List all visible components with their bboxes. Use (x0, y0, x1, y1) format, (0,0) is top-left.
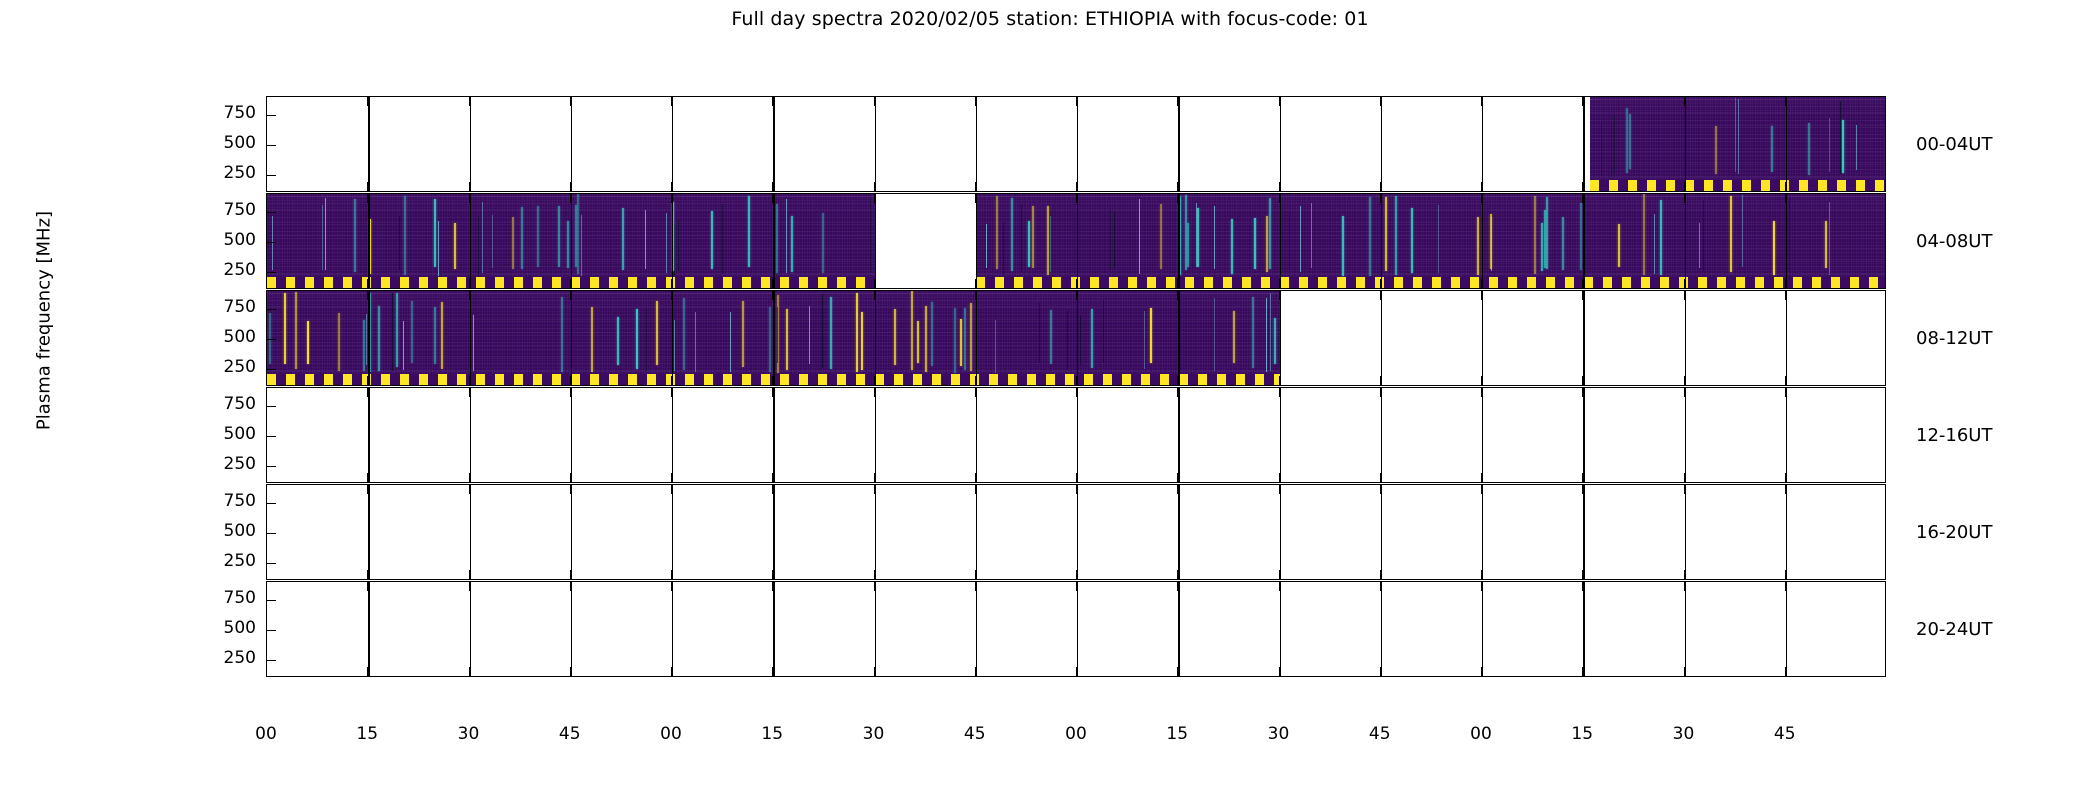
x-tick-mark (367, 97, 368, 106)
interference-streak (567, 221, 569, 269)
x-tick-mark (1582, 291, 1583, 300)
interference-streak (1300, 206, 1301, 272)
row-label-00-04ut: 00-04UT (1916, 134, 1992, 155)
interference-streak (272, 216, 273, 270)
x-tick-mark (570, 582, 571, 591)
x-grid-line (1280, 194, 1281, 288)
x-grid-line (1178, 485, 1179, 579)
x-grid-line (1178, 291, 1179, 385)
interference-streak (492, 215, 493, 268)
x-tick-mark (570, 388, 571, 397)
x-grid-line (1786, 291, 1787, 385)
x-tick-label: 15 (1552, 726, 1612, 743)
x-grid-line (1583, 194, 1584, 288)
x-tick-mark (469, 570, 470, 579)
x-tick-mark (1279, 582, 1280, 591)
x-grid-line (1178, 388, 1179, 482)
interference-streak (396, 293, 398, 367)
x-tick-mark (1582, 570, 1583, 579)
row-label-20-24ut: 20-24UT (1916, 619, 1992, 640)
interference-streak (1266, 216, 1268, 272)
y-tick-mark (267, 563, 276, 564)
interference-streak (674, 224, 675, 275)
y-tick-mark (267, 630, 276, 631)
x-grid-line (1178, 582, 1179, 676)
x-tick-mark (570, 667, 571, 676)
x-grid-line (1685, 97, 1686, 191)
x-grid-line (368, 582, 369, 676)
x-tick-label: 30 (439, 726, 499, 743)
interference-streak (1021, 205, 1022, 272)
x-tick-mark (1684, 388, 1685, 397)
y-tick-mark (267, 115, 276, 116)
interference-streak (656, 301, 658, 365)
interference-streak (1231, 219, 1233, 274)
y-tick-label: 250 (196, 262, 256, 279)
x-tick-mark (1582, 182, 1583, 191)
x-tick-mark (1076, 473, 1077, 482)
x-tick-mark (1380, 182, 1381, 191)
y-tick-mark (267, 406, 276, 407)
x-tick-mark (874, 388, 875, 397)
spectrogram-panel-16-20ut[interactable] (266, 484, 1886, 580)
x-grid-line (1685, 582, 1686, 676)
interference-streak (769, 307, 771, 371)
y-tick-label: 500 (196, 232, 256, 249)
x-tick-mark (975, 376, 976, 385)
x-tick-mark (772, 473, 773, 482)
spectrogram-panel-12-16ut[interactable] (266, 387, 1886, 483)
x-tick-mark (570, 473, 571, 482)
y-tick-label: 750 (196, 202, 256, 219)
x-tick-mark (1076, 570, 1077, 579)
spectrogram-panel-04-08ut[interactable] (266, 193, 1886, 289)
x-tick-mark (975, 97, 976, 106)
x-tick-mark (469, 279, 470, 288)
interference-streak (786, 309, 788, 371)
x-tick-mark (469, 194, 470, 203)
interference-streak (575, 205, 577, 266)
x-grid-line (1786, 194, 1787, 288)
interference-streak (1067, 311, 1068, 370)
x-tick-mark (671, 582, 672, 591)
x-tick-mark (874, 279, 875, 288)
interference-streak (1629, 114, 1631, 169)
interference-streak (322, 205, 323, 270)
interference-streak (1715, 126, 1717, 174)
interference-streak (1856, 125, 1857, 169)
x-tick-mark (1684, 667, 1685, 676)
x-tick-mark (367, 667, 368, 676)
x-grid-line (976, 291, 977, 385)
x-tick-mark (1279, 388, 1280, 397)
interference-streak (1050, 211, 1051, 273)
x-grid-line (470, 485, 471, 579)
x-tick-mark (1076, 388, 1077, 397)
x-grid-line (1077, 291, 1078, 385)
interference-streak (1546, 197, 1548, 270)
x-grid-line (875, 388, 876, 482)
x-grid-line (1685, 485, 1686, 579)
x-tick-mark (671, 376, 672, 385)
interference-streak (1438, 205, 1439, 273)
x-tick-mark (1380, 570, 1381, 579)
interference-streak (1139, 199, 1140, 275)
x-tick-mark (570, 194, 571, 203)
interference-streak (1580, 203, 1582, 270)
x-tick-mark (1785, 388, 1786, 397)
interference-streak (1660, 200, 1662, 275)
interference-streak (1150, 308, 1152, 363)
interference-streak (822, 213, 824, 274)
y-tick-label: 750 (196, 590, 256, 607)
x-tick-mark (671, 97, 672, 106)
interference-streak (1742, 195, 1743, 267)
interference-streak (1611, 123, 1612, 177)
x-tick-mark (772, 376, 773, 385)
x-tick-mark (1785, 582, 1786, 591)
y-tick-mark (267, 533, 276, 534)
x-tick-mark (1177, 473, 1178, 482)
x-tick-mark (1279, 182, 1280, 191)
interference-streak (1614, 116, 1615, 174)
x-grid-line (1178, 194, 1179, 288)
interference-streak (438, 221, 439, 276)
interference-streak (1395, 196, 1397, 275)
interference-streak (1534, 196, 1536, 274)
x-grid-line (672, 485, 673, 579)
x-tick-mark (1785, 485, 1786, 494)
x-grid-line (1077, 388, 1078, 482)
y-tick-label: 250 (196, 553, 256, 570)
x-tick-mark (1785, 97, 1786, 106)
x-grid-line (1482, 194, 1483, 288)
x-tick-mark (469, 485, 470, 494)
interference-streak (1730, 196, 1732, 272)
interference-streak (1047, 206, 1049, 275)
x-tick-mark (570, 182, 571, 191)
x-tick-mark (1076, 182, 1077, 191)
x-grid-line (1280, 291, 1281, 385)
x-grid-line (368, 194, 369, 288)
interference-streak (695, 312, 696, 372)
x-tick-mark (1177, 97, 1178, 106)
x-grid-line (1381, 194, 1382, 288)
x-grid-line (1381, 291, 1382, 385)
interference-streak (581, 215, 582, 275)
x-tick-mark (1481, 473, 1482, 482)
x-grid-line (976, 485, 977, 579)
interference-streak (558, 206, 560, 267)
interference-streak (1829, 202, 1830, 276)
x-tick-mark (1076, 376, 1077, 385)
y-tick-mark (267, 339, 276, 340)
x-grid-line (875, 97, 876, 191)
x-tick-mark (1684, 582, 1685, 591)
x-tick-mark (1785, 570, 1786, 579)
y-tick-label: 750 (196, 105, 256, 122)
spectrogram-data-segment (1590, 97, 1886, 191)
interference-streak (1840, 101, 1841, 174)
x-tick-mark (874, 582, 875, 591)
x-tick-mark (671, 291, 672, 300)
interference-streak (742, 301, 744, 367)
interference-streak (1562, 217, 1564, 270)
interference-streak (1003, 222, 1004, 274)
x-tick-mark (1785, 291, 1786, 300)
interference-streak (666, 213, 667, 273)
interference-streak (894, 309, 896, 365)
interference-streak (392, 293, 393, 371)
x-tick-mark (1582, 582, 1583, 591)
x-tick-mark (1481, 485, 1482, 494)
interference-streak (777, 307, 778, 363)
interference-streak (822, 294, 823, 369)
x-grid-line (773, 291, 774, 385)
y-tick-label: 250 (196, 456, 256, 473)
x-tick-mark (1684, 291, 1685, 300)
interference-streak (403, 321, 404, 370)
interference-streak (366, 314, 367, 365)
interference-streak (1028, 221, 1030, 267)
x-tick-label: 45 (945, 726, 1005, 743)
interference-streak (1477, 217, 1479, 275)
x-tick-mark (367, 570, 368, 579)
x-tick-mark (1177, 388, 1178, 397)
x-grid-line (470, 582, 471, 676)
x-tick-mark (1076, 582, 1077, 591)
x-tick-mark (874, 485, 875, 494)
x-tick-mark (1380, 376, 1381, 385)
x-grid-line (1381, 388, 1382, 482)
x-grid-line (470, 97, 471, 191)
y-tick-mark (267, 436, 276, 437)
interference-streak (1541, 223, 1543, 271)
x-tick-mark (1481, 582, 1482, 591)
y-tick-mark (267, 175, 276, 176)
x-grid-line (1583, 291, 1584, 385)
interference-streak (1773, 221, 1775, 275)
x-grid-line (368, 291, 369, 385)
x-tick-mark (1481, 182, 1482, 191)
x-tick-label: 00 (236, 726, 296, 743)
x-tick-mark (671, 279, 672, 288)
x-tick-mark (874, 194, 875, 203)
spectrogram-panel-20-24ut[interactable] (266, 581, 1886, 677)
interference-streak (325, 198, 326, 270)
x-tick-mark (671, 473, 672, 482)
interference-streak (722, 204, 723, 274)
x-tick-mark (1279, 97, 1280, 106)
x-tick-mark (469, 182, 470, 191)
low-frequency-dashed-band (1590, 180, 1886, 191)
interference-streak (1266, 298, 1267, 372)
x-grid-line (571, 485, 572, 579)
x-tick-mark (671, 182, 672, 191)
x-tick-mark (1684, 194, 1685, 203)
x-grid-line (1077, 582, 1078, 676)
interference-streak (1654, 214, 1655, 275)
interference-streak (861, 312, 863, 370)
y-tick-mark (267, 503, 276, 504)
interference-streak (1738, 99, 1739, 175)
interference-streak (931, 302, 933, 365)
x-tick-mark (671, 388, 672, 397)
interference-streak (1032, 206, 1034, 268)
y-tick-label: 250 (196, 359, 256, 376)
y-tick-mark (267, 242, 276, 243)
x-tick-label: 00 (1046, 726, 1106, 743)
x-tick-mark (1684, 182, 1685, 191)
x-tick-mark (1380, 194, 1381, 203)
y-tick-mark (267, 660, 276, 661)
interference-streak (478, 217, 479, 275)
interference-streak (986, 224, 987, 268)
interference-streak (1626, 108, 1628, 173)
interference-streak (996, 196, 998, 269)
x-tick-mark (1076, 97, 1077, 106)
x-tick-mark (1076, 667, 1077, 676)
x-grid-line (976, 97, 977, 191)
interference-streak (954, 308, 956, 373)
x-tick-mark (975, 485, 976, 494)
y-tick-label: 750 (196, 396, 256, 413)
x-grid-line (1077, 485, 1078, 579)
interference-streak (1829, 118, 1830, 172)
x-tick-label: 15 (742, 726, 802, 743)
row-label-04-08ut: 04-08UT (1916, 231, 1992, 252)
x-tick-mark (1481, 667, 1482, 676)
interference-streak (1699, 223, 1700, 268)
x-tick-mark (1380, 485, 1381, 494)
x-tick-mark (772, 485, 773, 494)
interference-streak (512, 217, 514, 269)
x-tick-mark (1684, 376, 1685, 385)
x-tick-mark (1481, 97, 1482, 106)
x-grid-line (1077, 194, 1078, 288)
x-grid-line (976, 194, 977, 288)
x-tick-mark (975, 667, 976, 676)
x-tick-mark (1684, 97, 1685, 106)
interference-streak (378, 306, 380, 371)
x-tick-label: 15 (337, 726, 397, 743)
x-grid-line (773, 194, 774, 288)
interference-streak (1214, 298, 1215, 371)
x-tick-mark (367, 376, 368, 385)
interference-streak (454, 223, 456, 269)
y-tick-label: 500 (196, 329, 256, 346)
x-tick-mark (1279, 279, 1280, 288)
x-tick-mark (1481, 388, 1482, 397)
x-tick-label: 30 (1654, 726, 1714, 743)
interference-streak (1011, 198, 1013, 271)
interference-streak (591, 307, 593, 373)
x-tick-mark (469, 97, 470, 106)
y-tick-label: 500 (196, 426, 256, 443)
x-grid-line (1280, 485, 1281, 579)
x-grid-line (875, 582, 876, 676)
x-tick-mark (1279, 376, 1280, 385)
x-tick-mark (570, 485, 571, 494)
x-grid-line (1280, 582, 1281, 676)
x-grid-line (571, 388, 572, 482)
interference-streak (748, 196, 750, 267)
spectrogram-panel-00-04ut[interactable] (266, 96, 1886, 192)
x-tick-mark (671, 485, 672, 494)
x-grid-line (1482, 388, 1483, 482)
x-tick-mark (469, 388, 470, 397)
x-tick-mark (975, 194, 976, 203)
x-tick-mark (975, 291, 976, 300)
x-tick-mark (1177, 485, 1178, 494)
x-grid-line (1482, 291, 1483, 385)
x-tick-label: 30 (1249, 726, 1309, 743)
x-tick-mark (1279, 473, 1280, 482)
interference-streak (1289, 213, 1290, 270)
x-grid-line (773, 388, 774, 482)
x-tick-mark (469, 667, 470, 676)
x-grid-line (1381, 582, 1382, 676)
interference-streak (561, 297, 563, 372)
x-tick-mark (367, 291, 368, 300)
x-grid-line (571, 582, 572, 676)
interference-streak (791, 216, 793, 272)
interference-streak (1114, 212, 1115, 268)
y-tick-label: 250 (196, 165, 256, 182)
x-tick-mark (1785, 182, 1786, 191)
y-tick-mark (267, 466, 276, 467)
x-tick-mark (1785, 279, 1786, 288)
spectrogram-panel-08-12ut[interactable] (266, 290, 1886, 386)
interference-streak (1233, 311, 1235, 364)
interference-streak (1110, 210, 1111, 270)
x-tick-label: 15 (1147, 726, 1207, 743)
y-tick-label: 500 (196, 523, 256, 540)
x-tick-mark (975, 473, 976, 482)
interference-streak (1342, 216, 1344, 275)
x-tick-mark (1582, 473, 1583, 482)
x-tick-mark (772, 570, 773, 579)
interference-streak (1618, 224, 1620, 268)
x-tick-mark (1279, 291, 1280, 300)
x-grid-line (1786, 582, 1787, 676)
interference-streak (537, 206, 539, 267)
x-grid-line (875, 485, 876, 579)
x-grid-line (470, 388, 471, 482)
interference-streak (1252, 297, 1254, 368)
interference-streak (1080, 315, 1081, 365)
interference-streak (338, 313, 340, 371)
x-grid-line (470, 194, 471, 288)
x-grid-line (773, 485, 774, 579)
x-grid-line (368, 388, 369, 482)
interference-streak (1385, 197, 1387, 271)
x-tick-mark (367, 473, 368, 482)
x-tick-mark (367, 582, 368, 591)
x-tick-mark (1076, 194, 1077, 203)
x-tick-mark (772, 194, 773, 203)
x-tick-mark (1380, 667, 1381, 676)
interference-streak (354, 199, 356, 272)
interference-streak (711, 211, 713, 270)
x-tick-mark (367, 279, 368, 288)
x-grid-line (1482, 97, 1483, 191)
x-tick-mark (1481, 376, 1482, 385)
interference-streak (363, 320, 365, 372)
interference-streak (1274, 318, 1276, 364)
x-tick-mark (1582, 667, 1583, 676)
x-tick-mark (874, 291, 875, 300)
